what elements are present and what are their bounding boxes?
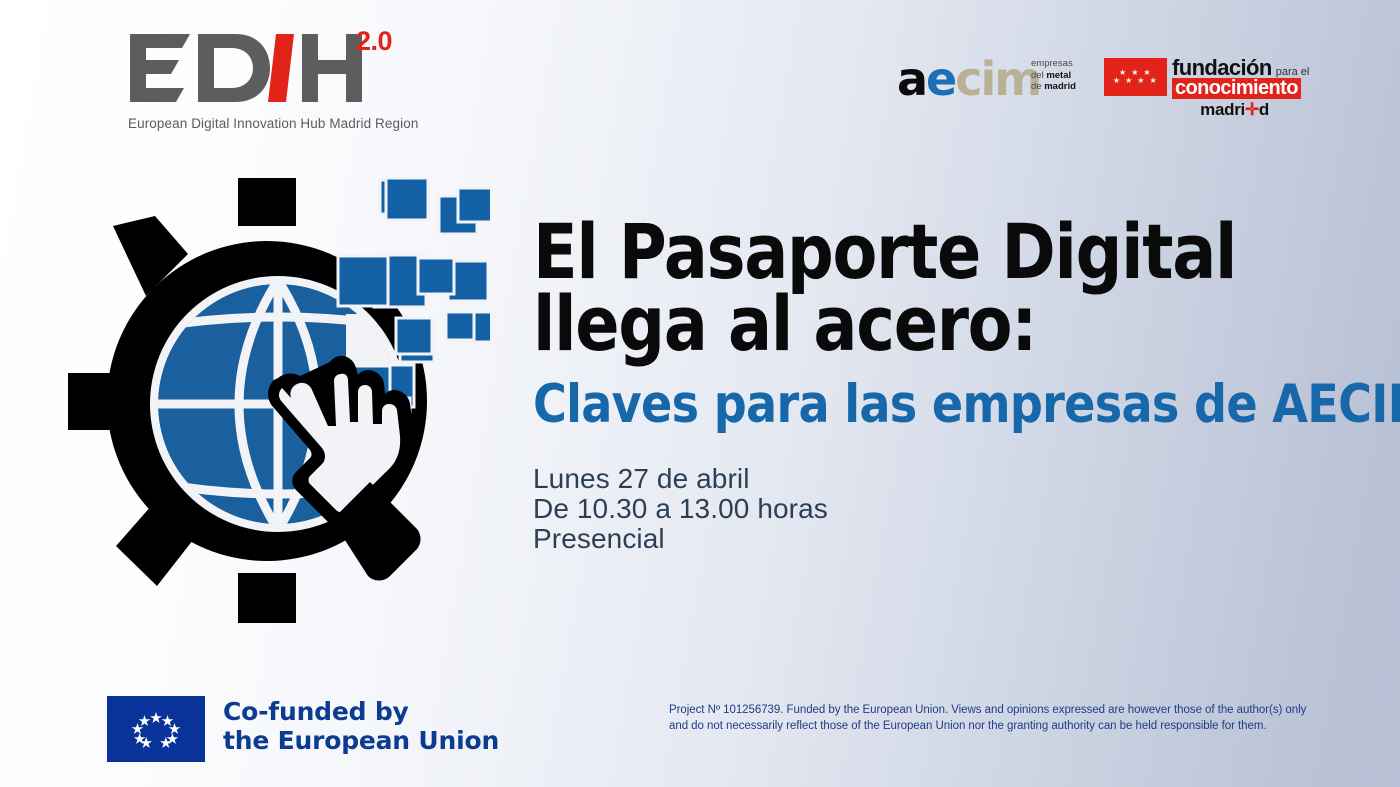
event-subtitle: Claves para las empresas de AECIM: [533, 360, 1246, 436]
madrid-stars-icon: ★ ★ ★ ★ ★ ★ ★: [1104, 58, 1167, 96]
edih-tagline: European Digital Innovation Hub Madrid R…: [128, 116, 418, 131]
eu-cofunded-text: Co-funded by the European Union: [223, 697, 499, 755]
eu-flag-icon: [107, 696, 205, 762]
eu-cofunded-line2: the European Union: [223, 726, 499, 755]
gear-globe-pointer-icon: [60, 168, 490, 633]
aecim-tag-de: de: [1031, 81, 1044, 92]
event-details: Lunes 27 de abril De 10.30 a 13.00 horas…: [533, 464, 1353, 554]
aecim-tag-madrid: madrid: [1044, 81, 1076, 92]
madrid-prefix: madri: [1200, 100, 1245, 119]
event-title-line2: llega al acero:: [533, 288, 1238, 360]
edih-logo: 2.0 European Digital Innovation Hub Madr…: [124, 28, 424, 138]
madrid-plus-d-word: madri✛d: [1172, 100, 1269, 120]
event-date: Lunes 27 de abril: [533, 464, 1353, 494]
aecim-tagline-line1: empresas: [1031, 58, 1076, 70]
aecim-tagline-line2: del metal: [1031, 70, 1076, 82]
aecim-logo: aecim empresas del metal de madrid: [897, 55, 1079, 107]
aecim-letter-a: a: [897, 52, 926, 106]
aecim-letter-e: e: [926, 52, 955, 106]
eu-cofunded-line1: Co-funded by: [223, 697, 499, 726]
aecim-letters-cim: cim: [955, 52, 1040, 106]
aecim-tag-metal: metal: [1046, 70, 1071, 81]
event-time: De 10.30 a 13.00 horas: [533, 494, 1353, 524]
event-format: Presencial: [533, 524, 1353, 554]
event-title-line1: El Pasaporte Digital: [533, 216, 1238, 288]
event-poster: 2.0 European Digital Innovation Hub Madr…: [0, 0, 1400, 787]
madrid-suffix: d: [1259, 100, 1269, 119]
conocimiento-word: conocimiento: [1172, 78, 1301, 99]
edih-wordmark: 2.0: [124, 28, 374, 110]
aecim-tagline: empresas del metal de madrid: [1031, 58, 1076, 93]
aecim-tagline-line3: de madrid: [1031, 81, 1076, 93]
event-text-block: El Pasaporte Digital llega al acero: Cla…: [533, 216, 1353, 554]
aecim-wordmark: aecim: [897, 53, 1040, 105]
madrid-plus-icon: ✛: [1245, 100, 1259, 119]
aecim-tag-del: del: [1031, 70, 1046, 81]
fundacion-conocimiento-madrid-logo: ★ ★ ★ ★ ★ ★ ★ fundaciónpara el conocimie…: [1104, 57, 1269, 112]
edih-version-label: 2.0: [356, 26, 392, 57]
eu-cofunded-logo: Co-funded by the European Union: [107, 696, 447, 762]
madrid-stars-row2: ★ ★ ★ ★: [1104, 77, 1167, 85]
eu-funding-disclaimer: Project Nº 101256739. Funded by the Euro…: [669, 703, 1311, 734]
